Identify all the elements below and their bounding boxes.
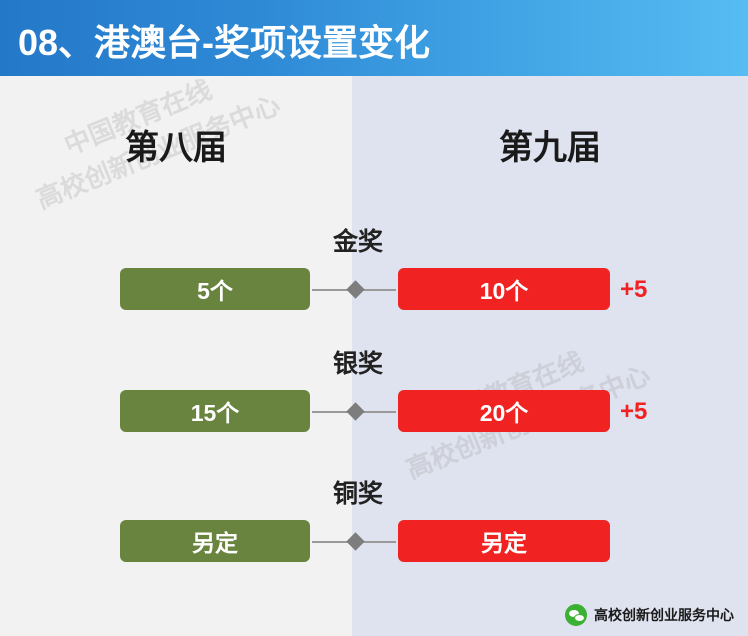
page-title: 08、港澳台-奖项设置变化 bbox=[18, 14, 430, 66]
delta-silver: +5 bbox=[620, 398, 647, 426]
footer-credit: 高校创新创业服务中心 bbox=[565, 604, 734, 626]
bar-left-gold: 5个 bbox=[120, 268, 310, 310]
row-label-bronze: 铜奖 bbox=[278, 474, 438, 510]
wechat-icon bbox=[565, 604, 587, 626]
bar-left-bronze: 另定 bbox=[120, 520, 310, 562]
footer-account-name: 高校创新创业服务中心 bbox=[594, 605, 734, 625]
row-label-gold: 金奖 bbox=[278, 222, 438, 258]
bar-right-bronze: 另定 bbox=[398, 520, 610, 562]
slide-header: 08、港澳台-奖项设置变化 bbox=[0, 0, 748, 76]
bar-left-silver: 15个 bbox=[120, 390, 310, 432]
slide-root: 08、港澳台-奖项设置变化 中国教育在线 高校创新创业服务中心 中国教育在线 高… bbox=[0, 0, 748, 636]
column-header-left: 第八届 bbox=[0, 120, 352, 169]
row-label-silver: 银奖 bbox=[278, 344, 438, 380]
column-header-right: 第九届 bbox=[352, 120, 748, 169]
bar-right-silver: 20个 bbox=[398, 390, 610, 432]
delta-gold: +5 bbox=[620, 276, 647, 304]
bar-right-gold: 10个 bbox=[398, 268, 610, 310]
